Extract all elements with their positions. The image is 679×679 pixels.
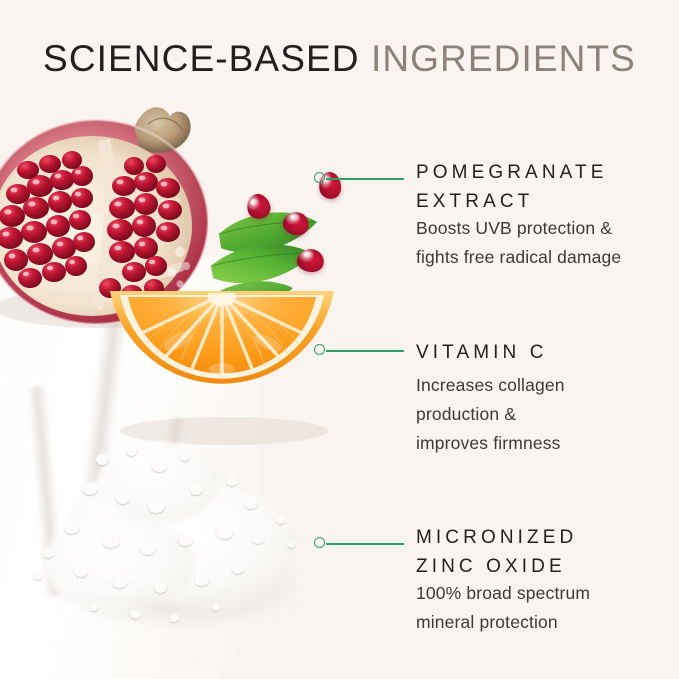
callout-body-zinc-oxide: 100% broad spectrum mineral protection bbox=[416, 579, 590, 637]
callout-connector bbox=[314, 344, 404, 358]
callout-marker-dot bbox=[314, 172, 325, 183]
zinc-oxide-powder-photo bbox=[30, 438, 320, 658]
page-title: SCIENCE-BASED INGREDIENTS bbox=[0, 38, 679, 80]
callout-connector-line bbox=[326, 543, 404, 545]
page-title-light: INGREDIENTS bbox=[360, 38, 636, 79]
callout-marker-dot bbox=[314, 344, 325, 355]
callout-body-vitamin-c: Increases collagen production & improves… bbox=[416, 371, 565, 458]
orange-slice-photo bbox=[108, 281, 336, 445]
infographic-canvas: SCIENCE-BASED INGREDIENTS bbox=[0, 0, 679, 679]
page-title-strong: SCIENCE-BASED bbox=[43, 38, 360, 79]
callout-heading-vitamin-c: VITAMIN C bbox=[416, 338, 548, 367]
powder-granule bbox=[226, 476, 238, 486]
ingredient-photo-group bbox=[0, 86, 360, 679]
callout-heading-pomegranate: POMEGRANATE EXTRACT bbox=[416, 158, 608, 216]
callout-connector bbox=[314, 537, 404, 551]
powder-granule bbox=[34, 572, 43, 580]
callout-connector-line bbox=[326, 350, 404, 352]
callout-connector-line bbox=[326, 178, 404, 180]
callout-body-pomegranate: Boosts UVB protection & fights free radi… bbox=[416, 214, 621, 272]
callout-connector bbox=[314, 172, 404, 186]
callout-marker-dot bbox=[314, 537, 325, 548]
callout-heading-zinc-oxide: MICRONIZED ZINC OXIDE bbox=[416, 523, 577, 581]
